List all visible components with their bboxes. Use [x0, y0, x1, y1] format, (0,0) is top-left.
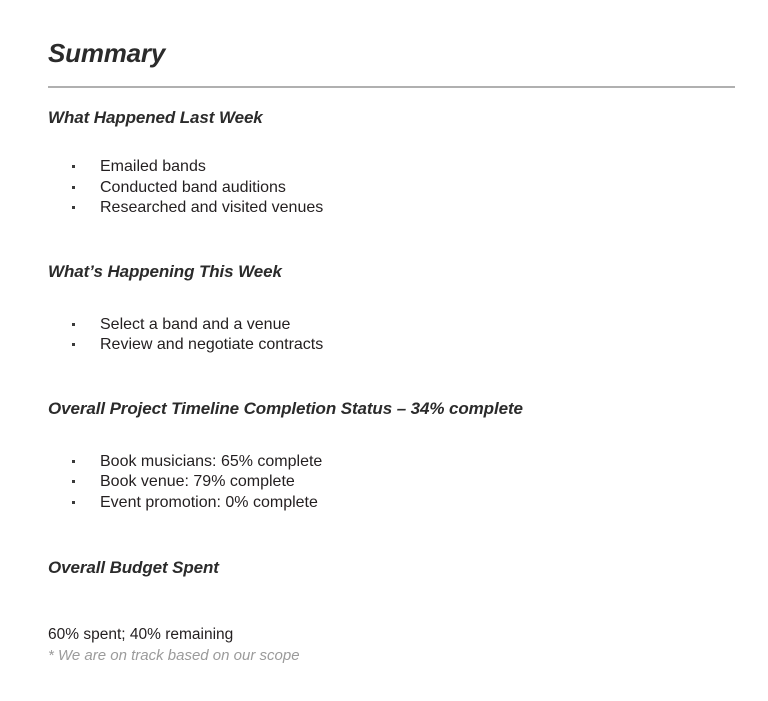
bullet-dot-icon — [72, 501, 75, 504]
list-item: Select a band and a venue — [48, 315, 736, 336]
list-item-label: Emailed bands — [100, 158, 206, 175]
list-item-label: Conducted band auditions — [100, 179, 286, 196]
list-item-label: Review and negotiate contracts — [100, 336, 323, 353]
list-item: Researched and visited venues — [48, 198, 736, 219]
bullet-dot-icon — [72, 480, 75, 483]
section-what-happened-last-week: What Happened Last Week Emailed bands Co… — [48, 88, 736, 219]
section-heading: What’s Happening This Week — [48, 219, 736, 282]
section-whats-happening-this-week: What’s Happening This Week Select a band… — [48, 219, 736, 356]
section-heading: Overall Project Timeline Completion Stat… — [48, 356, 736, 419]
budget-footnote: * We are on track based on our scope — [48, 645, 736, 666]
list-item-label: Researched and visited venues — [100, 199, 323, 216]
section-heading: What Happened Last Week — [48, 88, 736, 128]
list-item: Conducted band auditions — [48, 178, 736, 199]
list-item-label: Book musicians: 65% complete — [100, 453, 322, 470]
section-overall-budget-spent: Overall Budget Spent 60% spent; 40% rema… — [48, 513, 736, 666]
bullet-list: Emailed bands Conducted band auditions R… — [48, 128, 736, 219]
page-title: Summary — [32, 0, 736, 68]
list-item-label: Select a band and a venue — [100, 316, 290, 333]
bullet-dot-icon — [72, 206, 75, 209]
document-page: Summary What Happened Last Week Emailed … — [0, 0, 768, 701]
bullet-dot-icon — [72, 460, 75, 463]
bullet-dot-icon — [72, 323, 75, 326]
bullet-list: Select a band and a venue Review and neg… — [48, 282, 736, 356]
list-item-label: Book venue: 79% complete — [100, 473, 295, 490]
list-item: Review and negotiate contracts — [48, 335, 736, 356]
bullet-list: Book musicians: 65% complete Book venue:… — [48, 419, 736, 514]
list-item: Book venue: 79% complete — [48, 472, 736, 493]
list-item: Emailed bands — [48, 157, 736, 178]
section-heading: Overall Budget Spent — [48, 513, 736, 578]
budget-summary-text: 60% spent; 40% remaining — [48, 578, 736, 645]
section-overall-project-timeline: Overall Project Timeline Completion Stat… — [48, 356, 736, 514]
bullet-dot-icon — [72, 186, 75, 189]
bullet-dot-icon — [72, 343, 75, 346]
list-item: Book musicians: 65% complete — [48, 452, 736, 473]
list-item: Event promotion: 0% complete — [48, 493, 736, 514]
bullet-dot-icon — [72, 165, 75, 168]
list-item-label: Event promotion: 0% complete — [100, 494, 318, 511]
